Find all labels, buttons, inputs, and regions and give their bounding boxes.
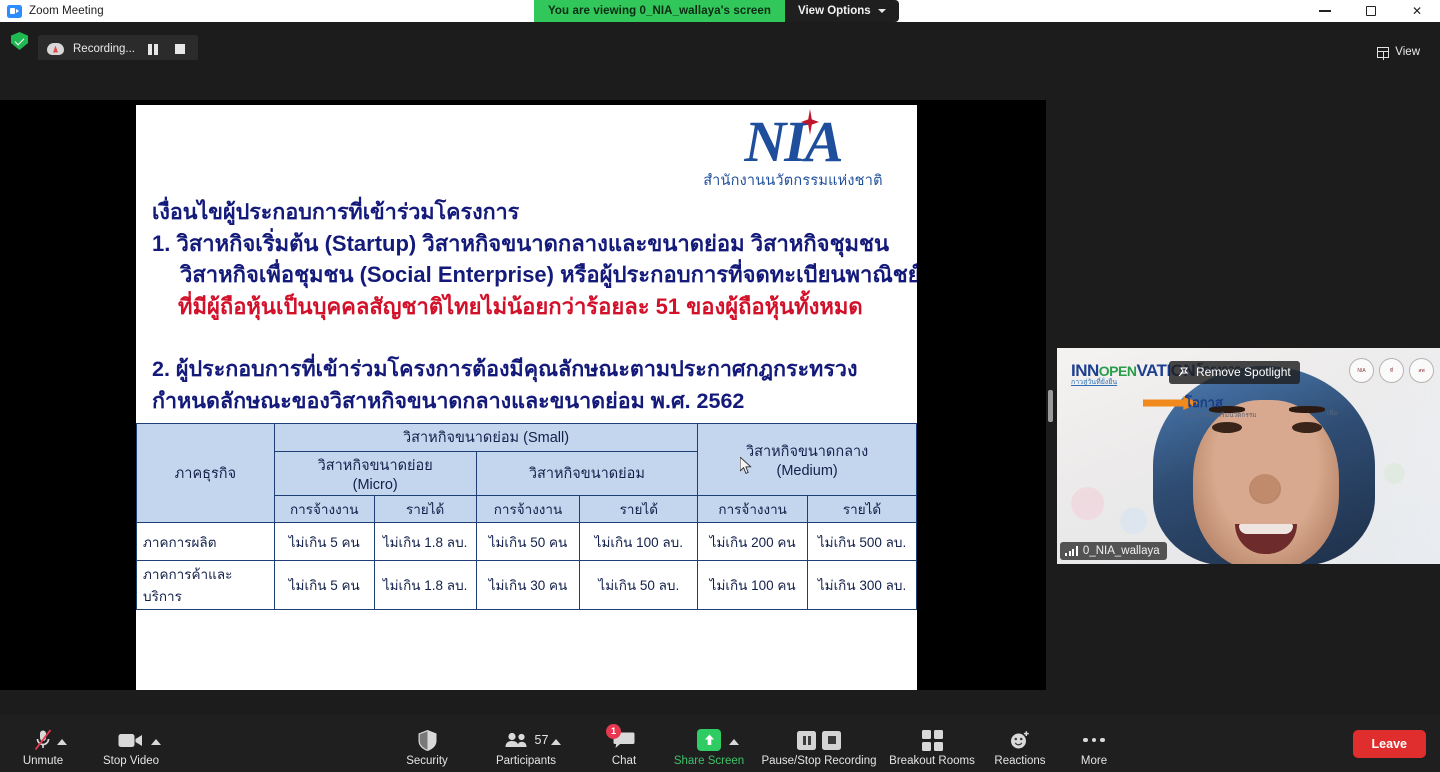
participants-button[interactable]: 57 Participants [483,727,569,767]
participant-name-label: 0_NIA_wallaya [1083,545,1160,557]
sme-criteria-table: ภาคธุรกิจ วิสาหกิจขนาดย่อม (Small) วิสาห… [136,423,917,610]
recording-status-label: Recording... [73,43,135,55]
logo-inn-text: INN [1071,361,1099,380]
cell-emp-med: ไม่เกิน 200 คน [698,523,808,561]
participants-label: Participants [496,755,556,767]
cell-rev-micro: ไม่เกิน 1.8 ลบ. [374,523,476,561]
th-medium-line1: วิสาหกิจขนาดกลาง [701,440,913,463]
recording-cloud-icon [47,43,64,55]
cell-emp-med: ไม่เกิน 100 คน [698,561,808,610]
view-button-label: View [1395,46,1420,58]
th-small: วิสาหกิจขนาดย่อม (Small) [274,424,697,452]
minimize-icon [1319,10,1331,11]
th-employment-small: การจ้างงาน [476,496,580,523]
cell-emp-micro: ไม่เกิน 5 คน [274,523,374,561]
cell-sector: ภาคการผลิต [137,523,275,561]
more-button[interactable]: More [1051,727,1137,767]
zoom-logo-icon [7,5,22,18]
remove-spotlight-label: Remove Spotlight [1196,365,1291,379]
participant-nose [1249,474,1281,504]
cell-sector: ภาคการค้าและบริการ [137,561,275,610]
cell-emp-small: ไม่เกิน 30 คน [476,561,580,610]
share-screen-icon [697,727,721,753]
bg-subtitle-2: ผ่านการส่งเสริมนวัตกรรม [1185,410,1257,420]
share-screen-label: Share Screen [674,755,744,767]
th-employment-medium: การจ้างงาน [698,496,808,523]
th-medium-line2: (Medium) [701,463,913,479]
audio-options-caret-icon[interactable] [57,739,67,745]
more-dots-icon [1083,727,1105,753]
slide-item1-line2: วิสาหกิจเพื่อชุมชน (Social Enterprise) ห… [152,259,904,291]
nia-logo: NIA สำนักงานนวัตกรรมแห่งชาติ [697,113,889,192]
cell-rev-small: ไม่เกิน 50 ลบ. [580,561,698,610]
security-button[interactable]: Security [384,727,470,767]
spotlight-pin-icon [1178,367,1189,378]
microphone-muted-icon [33,727,53,753]
participants-caret-icon[interactable] [551,739,561,745]
slide-item1-line1: 1. วิสาหกิจเริ่มต้น (Startup) วิสาหกิจขน… [152,228,904,260]
nia-subtitle: สำนักงานนวัตกรรมแห่งชาติ [697,169,889,192]
participant-name-tag: 0_NIA_wallaya [1060,542,1167,560]
viewing-screen-label: You are viewing 0_NIA_wallaya's screen [534,0,785,22]
th-sector: ภาคธุรกิจ [137,424,275,523]
chevron-down-icon [878,9,886,13]
participant-video-tile[interactable]: INNOPENVATION กาวสู่วันที่ยั่งยืน โครงกา… [1057,348,1440,564]
th-revenue-small: รายได้ [580,496,698,523]
pause-icon[interactable] [144,40,162,58]
chat-label: Chat [612,755,636,767]
grid-view-icon [1377,47,1389,58]
pause-stop-recording-button[interactable]: Pause/Stop Recording [760,727,878,767]
cell-rev-micro: ไม่เกิน 1.8 ลบ. [374,561,476,610]
slide-item2: 2. ผู้ประกอบการที่เข้าร่วมโครงการต้องมีค… [152,353,912,418]
video-options-caret-icon[interactable] [151,739,161,745]
reactions-label: Reactions [994,755,1045,767]
slide-heading: เงื่อนไขผู้ประกอบการที่เข้าร่วมโครงการ [152,197,904,228]
zoom-meeting-window: Zoom Meeting ✕ You are viewing 0_NIA_wal… [0,0,1440,772]
unmute-label: Unmute [23,755,63,767]
slide-body-text: เงื่อนไขผู้ประกอบการที่เข้าร่วมโครงการ 1… [152,197,904,323]
share-options-caret-icon[interactable] [729,739,739,745]
participant-eye-left [1212,422,1242,433]
stop-video-button[interactable]: Stop Video [88,727,174,767]
cell-emp-micro: ไม่เกิน 5 คน [274,561,374,610]
th-medium: วิสาหกิจขนาดกลาง (Medium) [698,424,917,496]
view-options-label: View Options [798,5,871,17]
th-micro: วิสาหกิจขนาดย่อย (Micro) [274,452,476,496]
th-revenue-micro: รายได้ [374,496,476,523]
shared-screen-area[interactable]: NIA สำนักงานนวัตกรรมแห่งชาติ เงื่อนไขผู้… [0,100,1046,690]
seal-logo-3: สพ [1409,358,1434,383]
participant-brow-right [1289,406,1325,413]
participants-count: 57 [535,733,549,747]
th-small-sub: วิสาหกิจขนาดย่อม [476,452,698,496]
sharing-banner: You are viewing 0_NIA_wallaya's screen V… [534,0,899,22]
maximize-button[interactable] [1348,0,1394,22]
chat-unread-badge: 1 [606,724,621,739]
participant-teeth [1239,524,1293,534]
participants-icon: 57 [504,727,549,753]
th-employment-micro: การจ้างงาน [274,496,374,523]
stop-recording-icon[interactable] [822,731,841,750]
seal-logo-1: NIA [1349,358,1374,383]
meeting-stage: NIA สำนักงานนวัตกรรมแห่งชาติ เงื่อนไขผู้… [0,60,1440,715]
breakout-rooms-icon [922,727,943,753]
more-label: More [1081,755,1107,767]
app-title: Zoom Meeting [29,5,104,17]
seal-logo-2: ที่ [1379,358,1404,383]
chat-bubble-icon: 1 [613,727,635,753]
chat-button[interactable]: 1 Chat [581,727,667,767]
cell-rev-med: ไม่เกิน 500 ลบ. [808,523,917,561]
leave-button[interactable]: Leave [1353,730,1426,758]
video-camera-icon [118,727,144,753]
logo-open-text: OPEN [1099,363,1137,379]
stop-video-label: Stop Video [103,755,159,767]
table-row: ภาคการค้าและบริการ ไม่เกิน 5 คน ไม่เกิน … [137,561,917,610]
nia-wordmark: NIA [697,113,889,171]
signal-bars-icon [1065,546,1078,556]
security-label: Security [406,755,448,767]
table-row: ภาคการผลิต ไม่เกิน 5 คน ไม่เกิน 1.8 ลบ. … [137,523,917,561]
window-controls: ✕ [1302,0,1440,22]
maximize-icon [1366,6,1376,16]
th-micro-line1: วิสาหกิจขนาดย่อย [278,454,473,477]
breakout-rooms-button[interactable]: Breakout Rooms [882,727,982,767]
bg-subtitle-3: เพิ่ม [1327,408,1338,418]
th-micro-line2: (Micro) [278,477,473,493]
table-body: ภาคการผลิต ไม่เกิน 5 คน ไม่เกิน 1.8 ลบ. … [137,523,917,610]
table-header: ภาคธุรกิจ วิสาหกิจขนาดย่อม (Small) วิสาห… [137,424,917,523]
shield-check-icon[interactable] [11,32,28,50]
th-revenue-medium: รายได้ [808,496,917,523]
close-button[interactable]: ✕ [1394,0,1440,22]
mouse-cursor [740,457,752,475]
share-resize-handle[interactable] [1048,390,1053,422]
shield-security-icon [417,727,438,753]
meeting-toolbar: Unmute Stop Video Security [0,715,1440,772]
view-layout-button[interactable]: View [1369,42,1428,62]
recording-indicator: Recording... [38,35,198,63]
cell-rev-med: ไม่เกิน 300 ลบ. [808,561,917,610]
pause-stop-recording-icon [797,727,841,753]
table-header-row-1: ภาคธุรกิจ วิสาหกิจขนาดย่อม (Small) วิสาห… [137,424,917,452]
participant-eye-right [1292,422,1322,433]
reactions-smiley-icon [1009,727,1031,753]
cell-rev-small: ไม่เกิน 100 ลบ. [580,523,698,561]
unmute-button[interactable]: Unmute [0,727,86,767]
pause-stop-recording-label: Pause/Stop Recording [761,755,876,767]
close-icon: ✕ [1412,4,1422,18]
stop-icon[interactable] [171,40,189,58]
recording-bar: Recording... View [0,22,1440,60]
breakout-rooms-label: Breakout Rooms [889,755,975,767]
cell-emp-small: ไม่เกิน 50 คน [476,523,580,561]
remove-spotlight-tooltip[interactable]: Remove Spotlight [1169,361,1300,384]
presentation-slide: NIA สำนักงานนวัตกรรมแห่งชาติ เงื่อนไขผู้… [136,105,917,690]
pause-recording-icon[interactable] [797,731,816,750]
view-options-button[interactable]: View Options [785,0,899,22]
slide-item1-line3-highlight: ที่มีผู้ถือหุ้นเป็นบุคคลสัญชาติไทยไม่น้อ… [152,291,904,323]
share-screen-button[interactable]: Share Screen [666,727,752,767]
minimize-button[interactable] [1302,0,1348,22]
